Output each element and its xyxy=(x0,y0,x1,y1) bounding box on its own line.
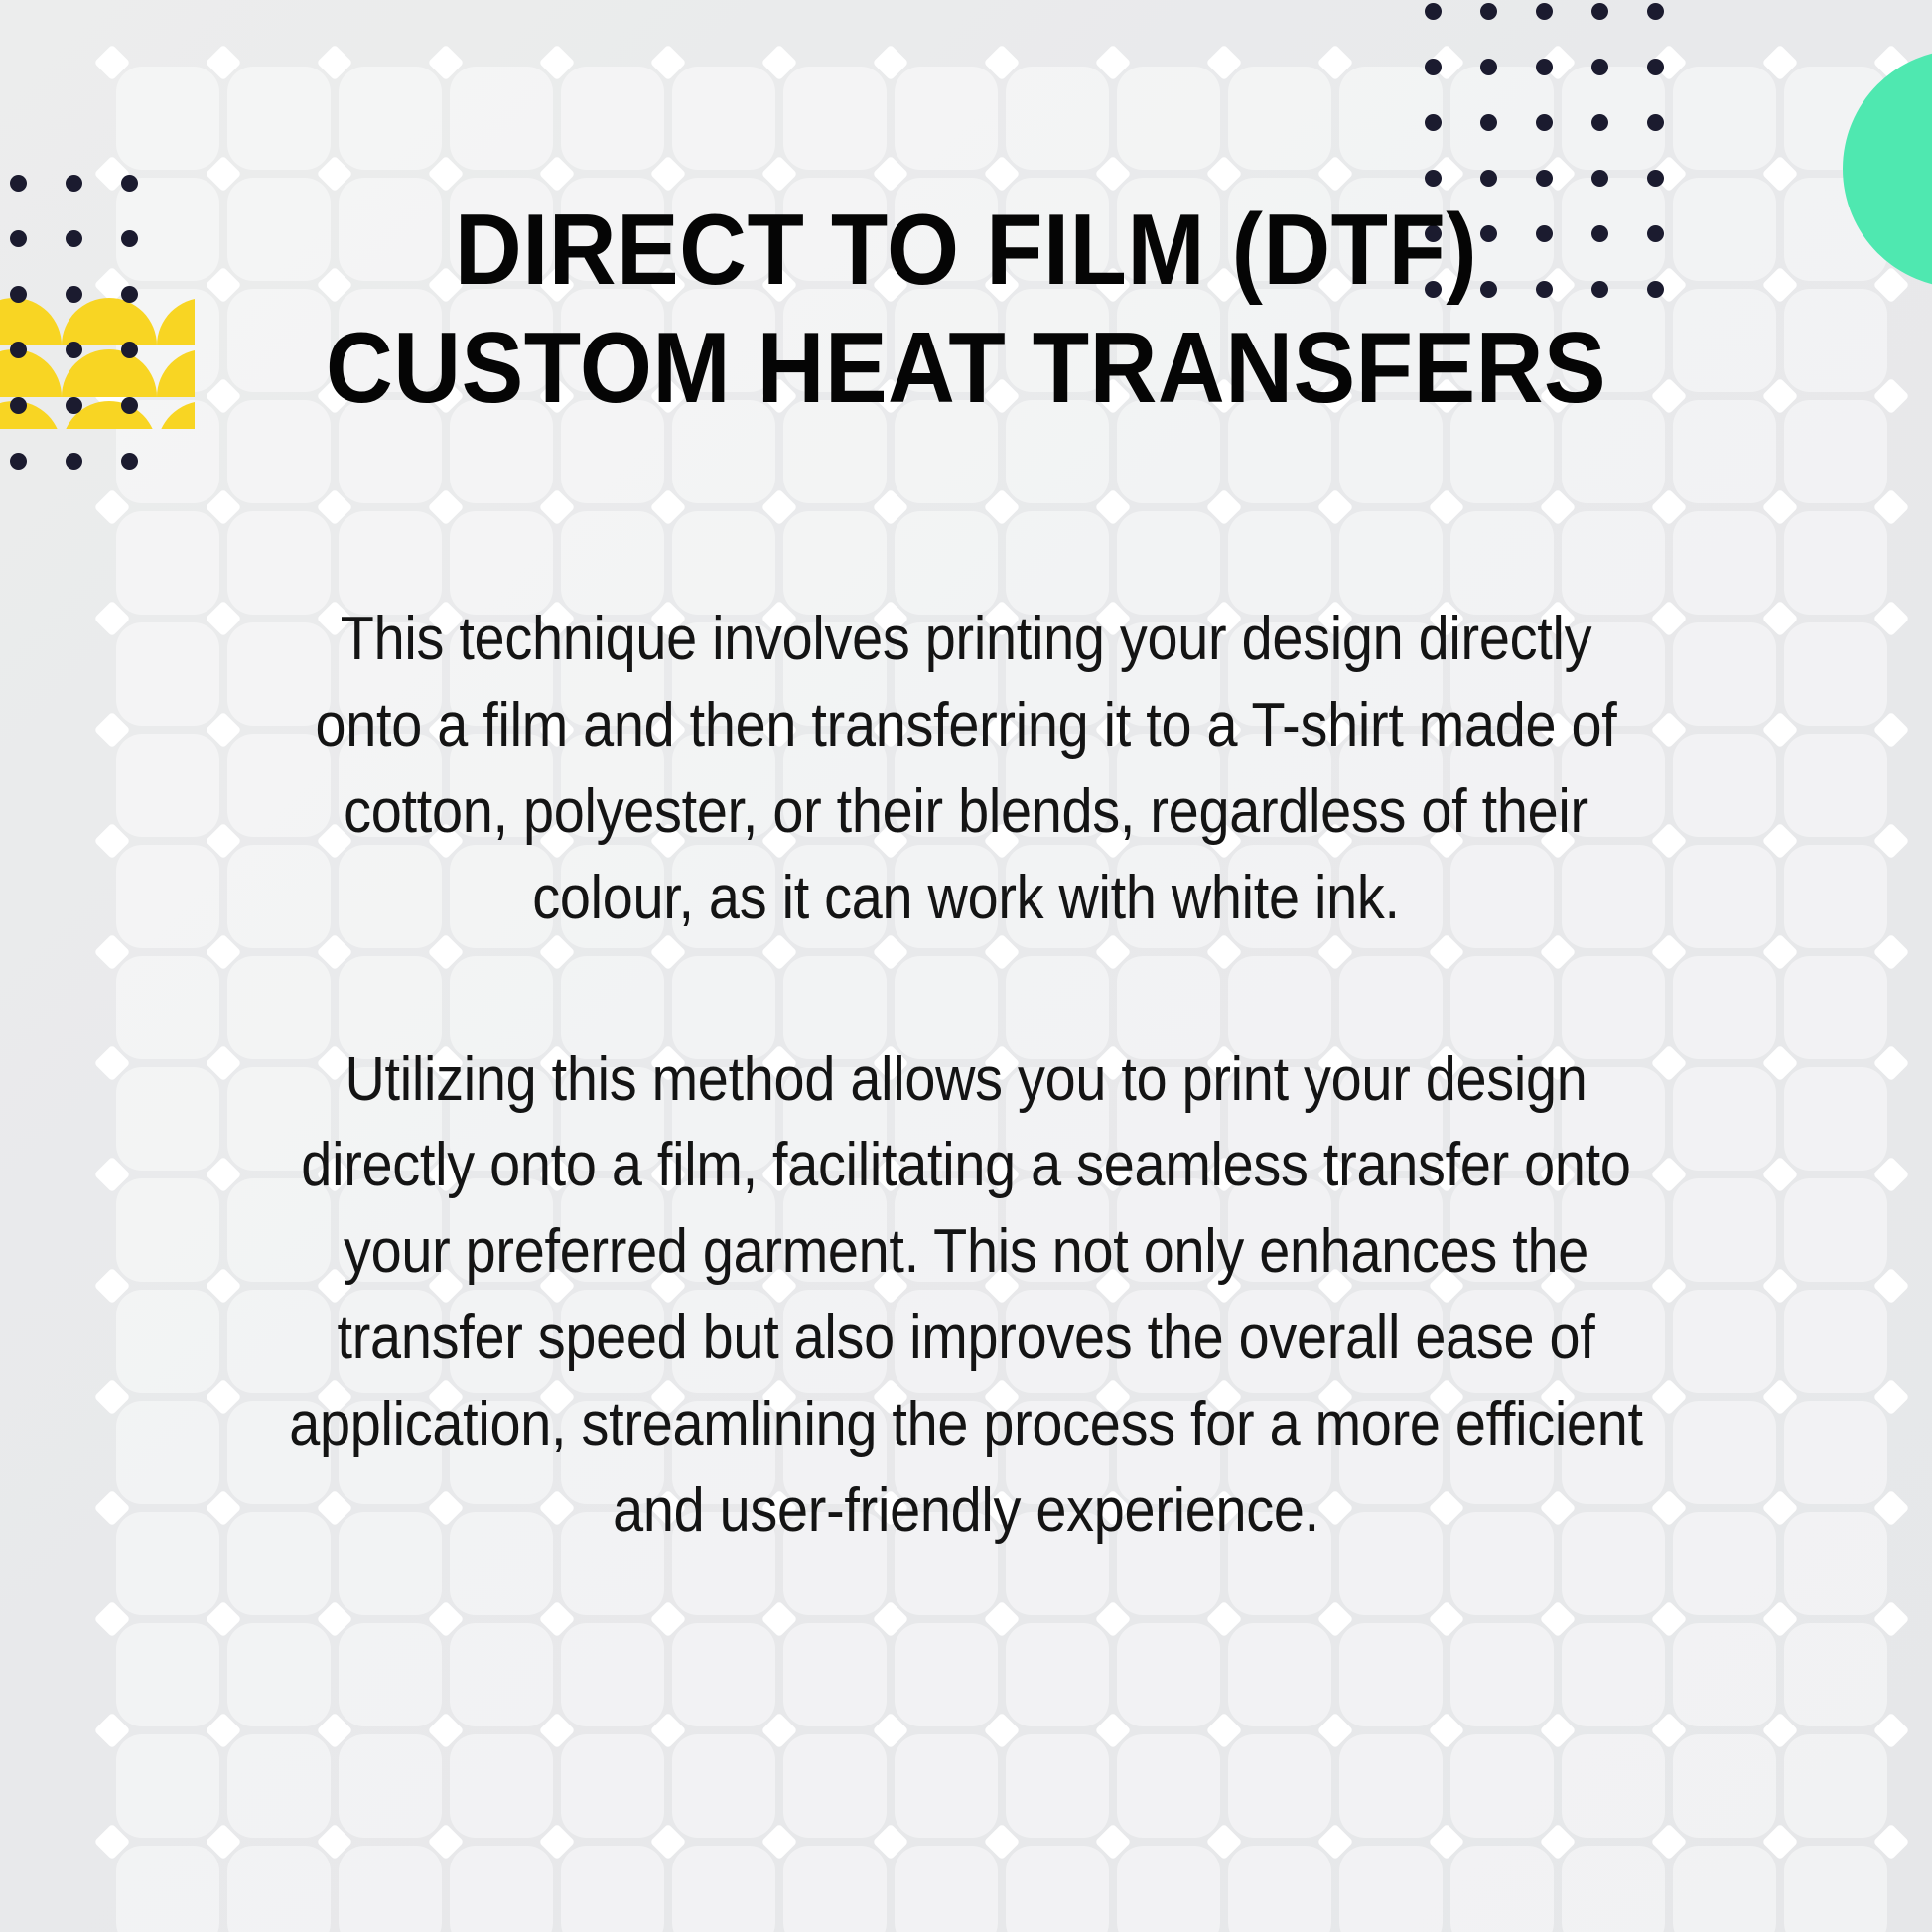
paragraph-1: This technique involves printing your de… xyxy=(287,597,1645,941)
poster-content: DIRECT TO FILM (DTF) CUSTOM HEAT TRANSFE… xyxy=(0,0,1932,1932)
paragraph-2: Utilizing this method allows you to prin… xyxy=(287,1037,1645,1555)
page-title-line-1: DIRECT TO FILM (DTF) xyxy=(455,195,1477,306)
poster-canvas: DIRECT TO FILM (DTF) CUSTOM HEAT TRANSFE… xyxy=(0,0,1932,1932)
body-text-block: This technique involves printing your de… xyxy=(211,597,1721,1554)
page-title: DIRECT TO FILM (DTF) CUSTOM HEAT TRANSFE… xyxy=(311,192,1622,428)
page-title-line-2: CUSTOM HEAT TRANSFERS xyxy=(326,313,1606,424)
